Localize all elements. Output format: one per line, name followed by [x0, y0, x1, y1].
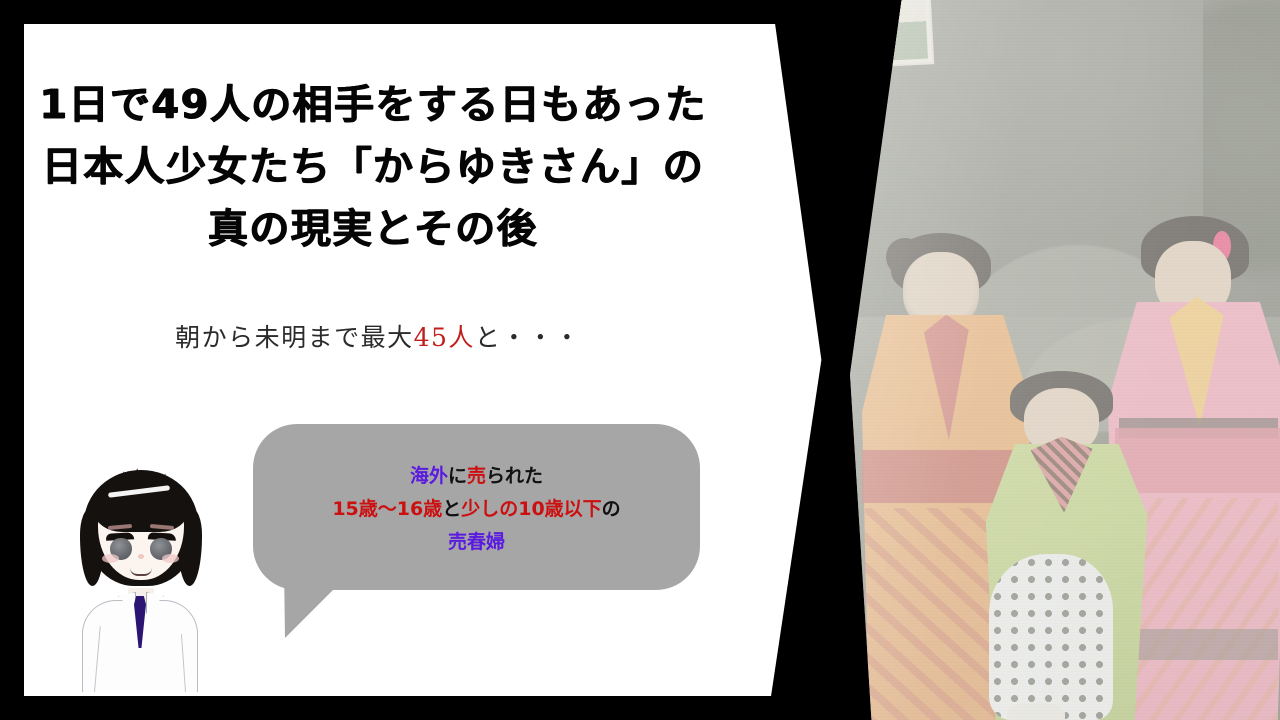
avatar [60, 462, 220, 692]
photograph-image: F [850, 0, 1280, 720]
bubble-line-1: 海外に売られた [253, 460, 700, 493]
bubble-l1-seg-1: 海外 [410, 465, 448, 487]
postage-stamp: F [864, 0, 932, 66]
bubble-l2-seg-1: 15歳〜16歳 [332, 498, 442, 520]
woman-center [979, 374, 1151, 720]
avatar-blush-right [162, 554, 179, 563]
woman-center-polka-dot-skirt [989, 554, 1113, 720]
title-line-2: 日本人少女たち「からゆきさん」の [0, 136, 746, 198]
bubble-l1-seg-3: 売 [467, 465, 486, 487]
avatar-blush-left [102, 554, 119, 563]
bubble-l2-seg-3: 少しの10歳以下 [461, 498, 601, 520]
speech-bubble-text: 海外に売られた 15歳〜16歳と少しの10歳以下の 売春婦 [253, 460, 700, 559]
subtitle-suffix: と・・・ [475, 323, 581, 352]
bubble-l1-seg-2: に [448, 465, 467, 487]
bubble-l1-seg-4: られた [486, 465, 543, 487]
vintage-photograph-panel: F [850, 0, 1280, 720]
bubble-l2-seg-4: の [602, 498, 621, 520]
bubble-line-2: 15歳〜16歳と少しの10歳以下の [253, 493, 700, 526]
avatar-nose [138, 554, 144, 559]
subtitle-highlight: 45人 [414, 323, 475, 352]
stamp-postmark-icon [857, 0, 919, 9]
stamp-letter: F [874, 6, 892, 41]
subtitle: 朝から未明まで最大45人と・・・ [0, 318, 756, 354]
title-line-1: 1日で49人の相手をする日もあった [0, 74, 746, 136]
bubble-l3-seg-1: 売春婦 [448, 531, 505, 553]
title-line-3: 真の現実とその後 [0, 198, 746, 260]
subtitle-prefix: 朝から未明まで最大 [175, 323, 414, 352]
bubble-l2-seg-2: と [442, 498, 461, 520]
page-title: 1日で49人の相手をする日もあった 日本人少女たち「からゆきさん」の 真の現実と… [0, 74, 746, 260]
bubble-line-3: 売春婦 [253, 526, 700, 559]
woman-center-geta-sandal [1007, 703, 1065, 720]
